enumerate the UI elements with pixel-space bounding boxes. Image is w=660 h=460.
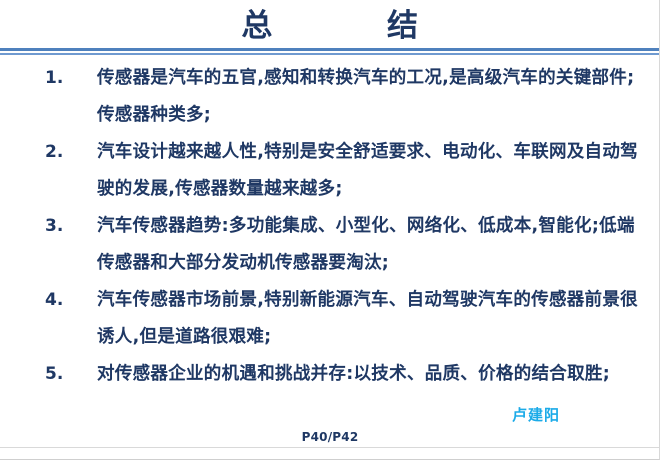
divider-thin-line	[0, 53, 660, 55]
list-item-number: 3.	[45, 208, 85, 245]
page-title: 总 结	[0, 4, 660, 48]
list-item: 5. 对传感器企业的机遇和挑战并存:以技术、品质、价格的结合取胜;	[0, 356, 660, 430]
list-item: 1. 传感器是汽车的五官,感知和转换汽车的工况,是高级汽车的关键部件;传感器种类…	[0, 60, 660, 134]
list-item-text: 汽车传感器市场前景,特别新能源汽车、自动驾驶汽车的传感器前景很诱人,但是道路很艰…	[97, 282, 638, 356]
list-item-text: 对传感器企业的机遇和挑战并存:以技术、品质、价格的结合取胜;	[97, 356, 638, 393]
summary-list: 1. 传感器是汽车的五官,感知和转换汽车的工况,是高级汽车的关键部件;传感器种类…	[0, 60, 660, 430]
list-item-number: 4.	[45, 282, 85, 319]
list-item: 2. 汽车设计越来越人性,特别是安全舒适要求、电动化、车联网及自动驾驶的发展,传…	[0, 134, 660, 208]
slide-canvas: 总 结 1. 传感器是汽车的五官,感知和转换汽车的工况,是高级汽车的关键部件;传…	[0, 0, 660, 460]
list-item-text: 传感器是汽车的五官,感知和转换汽车的工况,是高级汽车的关键部件;传感器种类多;	[97, 60, 638, 134]
footer-divider	[0, 447, 659, 448]
list-item-number: 5.	[45, 356, 85, 393]
author-signature: 卢建阳	[512, 405, 560, 425]
title-area: 总 结	[0, 4, 660, 50]
title-divider	[0, 48, 660, 57]
list-item-number: 1.	[45, 60, 85, 97]
list-item-text: 汽车设计越来越人性,特别是安全舒适要求、电动化、车联网及自动驾驶的发展,传感器数…	[97, 134, 638, 208]
list-item: 4. 汽车传感器市场前景,特别新能源汽车、自动驾驶汽车的传感器前景很诱人,但是道…	[0, 282, 660, 356]
page-number-label: P40/P42	[0, 429, 660, 445]
list-item-text: 汽车传感器趋势:多功能集成、小型化、网络化、低成本,智能化;低端传感器和大部分发…	[97, 208, 638, 282]
list-item: 3. 汽车传感器趋势:多功能集成、小型化、网络化、低成本,智能化;低端传感器和大…	[0, 208, 660, 282]
list-item-number: 2.	[45, 134, 85, 171]
